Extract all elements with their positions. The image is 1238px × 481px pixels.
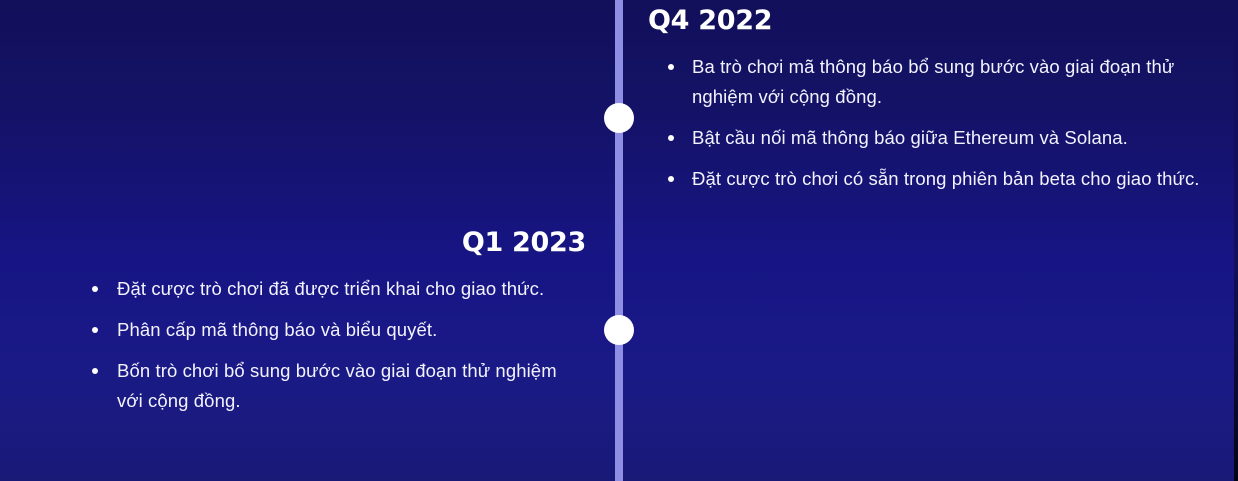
bullet-dot-icon (92, 368, 98, 374)
milestone-item: Phân cấp mã thông báo và biểu quyết. (86, 315, 586, 345)
milestone-item: Bật cầu nối mã thông báo giữa Ethereum v… (648, 123, 1208, 153)
milestone-title-q1-2023: Q1 2023 (30, 226, 586, 260)
milestone-q4-2022: Q4 2022 Ba trò chơi mã thông báo bổ sung… (648, 4, 1208, 194)
bullet-dot-icon (668, 176, 674, 182)
milestone-list-q4-2022: Ba trò chơi mã thông báo bổ sung bước và… (648, 52, 1208, 194)
milestone-item-text: Ba trò chơi mã thông báo bổ sung bước và… (692, 52, 1208, 112)
timeline-node-q4-2022 (604, 103, 634, 133)
milestone-item-text: Đặt cược trò chơi có sẵn trong phiên bản… (692, 164, 1208, 194)
milestone-title-q4-2022: Q4 2022 (648, 4, 1208, 38)
milestone-item: Đặt cược trò chơi có sẵn trong phiên bản… (648, 164, 1208, 194)
timeline-node-q1-2023 (604, 315, 634, 345)
milestone-item-text: Đặt cược trò chơi đã được triển khai cho… (117, 274, 586, 304)
milestone-item: Đặt cược trò chơi đã được triển khai cho… (86, 274, 586, 304)
bullet-dot-icon (668, 64, 674, 70)
milestone-item-text: Bật cầu nối mã thông báo giữa Ethereum v… (692, 123, 1208, 153)
milestone-item-text: Bốn trò chơi bổ sung bước vào giai đoạn … (117, 356, 586, 416)
right-edge-sliver (1234, 0, 1238, 481)
bullet-dot-icon (668, 135, 674, 141)
milestone-item: Ba trò chơi mã thông báo bổ sung bước và… (648, 52, 1208, 112)
bullet-dot-icon (92, 327, 98, 333)
roadmap-timeline-section: Q4 2022 Ba trò chơi mã thông báo bổ sung… (0, 0, 1238, 481)
milestone-item: Bốn trò chơi bổ sung bước vào giai đoạn … (86, 356, 586, 416)
bullet-dot-icon (92, 286, 98, 292)
milestone-list-q1-2023: Đặt cược trò chơi đã được triển khai cho… (30, 274, 586, 416)
timeline-vertical-axis (615, 0, 623, 481)
milestone-item-text: Phân cấp mã thông báo và biểu quyết. (117, 315, 586, 345)
milestone-q1-2023: Q1 2023 Đặt cược trò chơi đã được triển … (30, 226, 586, 416)
